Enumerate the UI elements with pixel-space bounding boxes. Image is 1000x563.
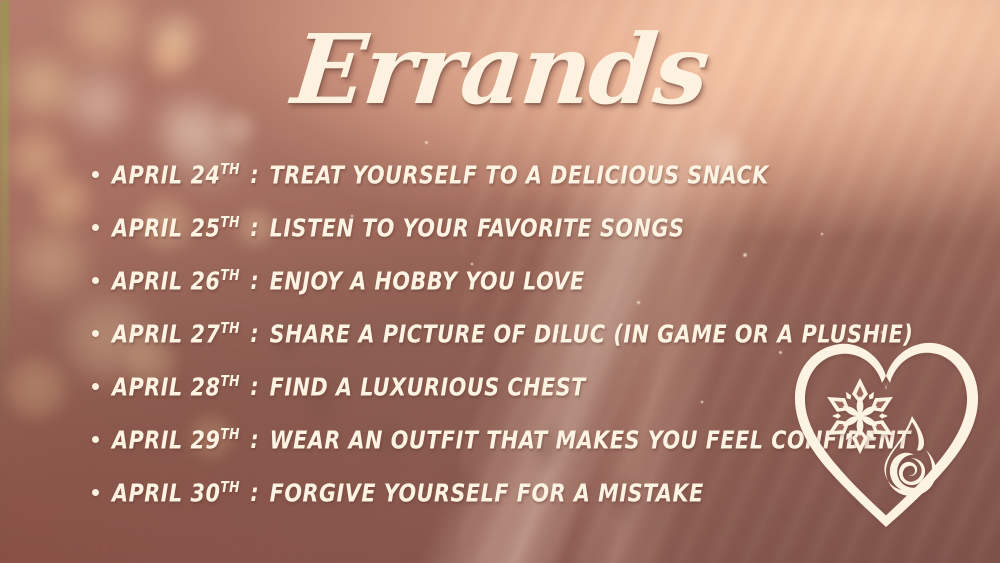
errand-date: APRIL 24 xyxy=(112,160,220,189)
errand-item: APRIL 25TH : LISTEN TO YOUR FAVORITE SON… xyxy=(92,213,922,266)
errand-date-ordinal: TH xyxy=(220,319,239,337)
errand-task: TREAT YOURSELF TO A DELICIOUS SNACK xyxy=(270,160,769,189)
errand-date: APRIL 30 xyxy=(112,478,220,507)
errand-task: FORGIVE YOURSELF FOR A MISTAKE xyxy=(270,478,704,507)
errand-text: APRIL 30TH : FORGIVE YOURSELF FOR A MIST… xyxy=(112,478,704,507)
page-title: Errands xyxy=(0,18,1000,122)
errand-separator: : xyxy=(240,372,270,401)
slide-content: Errands APRIL 24TH : TREAT YOURSELF TO A… xyxy=(0,0,1000,563)
errand-text: APRIL 26TH : ENJOY A HOBBY YOU LOVE xyxy=(112,266,585,295)
errand-task: ENJOY A HOBBY YOU LOVE xyxy=(270,266,585,295)
errand-separator: : xyxy=(240,160,270,189)
errand-date: APRIL 28 xyxy=(112,372,220,401)
errand-separator: : xyxy=(240,425,270,454)
errand-text: APRIL 28TH : FIND A LUXURIOUS CHEST xyxy=(112,372,586,401)
errand-date-ordinal: TH xyxy=(220,372,239,390)
errand-task: LISTEN TO YOUR FAVORITE SONGS xyxy=(270,213,685,242)
errand-separator: : xyxy=(240,213,270,242)
watermark: 12 xyxy=(92,538,111,555)
slide-canvas: Errands APRIL 24TH : TREAT YOURSELF TO A… xyxy=(0,0,1000,563)
errand-date: APRIL 27 xyxy=(112,319,220,348)
pyro-flame-icon xyxy=(884,416,936,496)
errand-text: APRIL 24TH : TREAT YOURSELF TO A DELICIO… xyxy=(112,160,769,189)
errand-item: APRIL 24TH : TREAT YOURSELF TO A DELICIO… xyxy=(92,160,922,213)
errand-date-ordinal: TH xyxy=(220,213,239,231)
heart-emblem xyxy=(788,332,984,532)
cryo-snowflake-icon xyxy=(823,378,897,454)
errand-date: APRIL 25 xyxy=(112,213,220,242)
bullet-icon xyxy=(92,171,99,178)
bullet-icon xyxy=(92,224,99,231)
errand-task: FIND A LUXURIOUS CHEST xyxy=(270,372,586,401)
errand-item: APRIL 26TH : ENJOY A HOBBY YOU LOVE xyxy=(92,266,922,319)
errand-separator: : xyxy=(240,478,270,507)
bullet-icon xyxy=(92,383,99,390)
errand-date: APRIL 26 xyxy=(112,266,220,295)
errand-date-ordinal: TH xyxy=(220,425,239,443)
errand-date-ordinal: TH xyxy=(220,266,239,284)
bullet-icon xyxy=(92,330,99,337)
errand-date-ordinal: TH xyxy=(220,160,239,178)
bullet-icon xyxy=(92,436,99,443)
errand-date-ordinal: TH xyxy=(220,478,239,496)
errand-separator: : xyxy=(240,266,270,295)
errand-text: APRIL 25TH : LISTEN TO YOUR FAVORITE SON… xyxy=(112,213,684,242)
bullet-icon xyxy=(92,277,99,284)
bullet-icon xyxy=(92,489,99,496)
errand-separator: : xyxy=(240,319,270,348)
heart-outline-icon xyxy=(795,343,978,527)
errand-date: APRIL 29 xyxy=(112,425,220,454)
